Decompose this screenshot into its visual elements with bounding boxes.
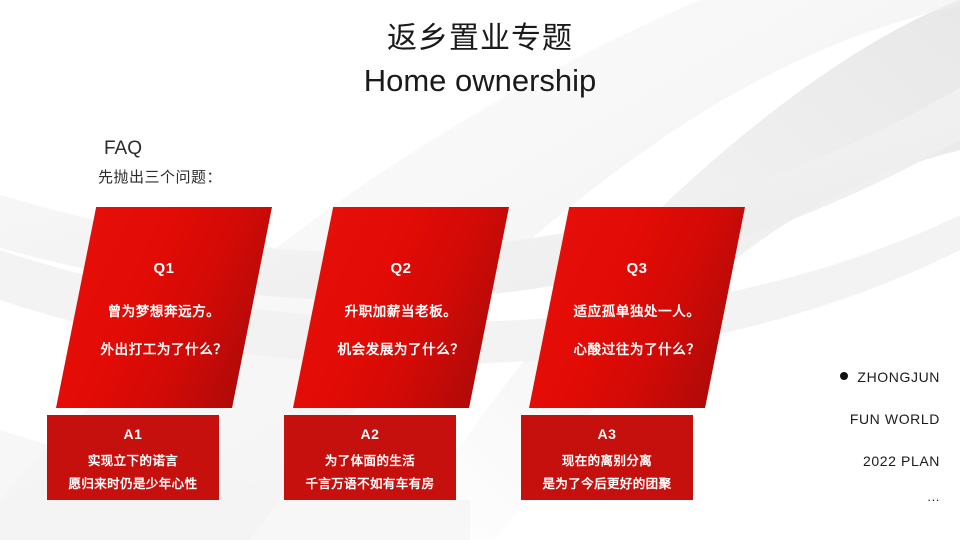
answer-3-line-1: 现在的离别分离 <box>521 450 693 469</box>
answer-box-2[interactable]: A2 为了体面的生活 千言万语不如有车有房 <box>284 415 456 500</box>
question-2-line-2: 机会发展为了什么？ <box>293 338 509 358</box>
question-panel-1-text: Q1 曾为梦想奔远方。 外出打工为了什么？ <box>56 207 272 408</box>
question-1-line-2: 外出打工为了什么？ <box>56 338 272 358</box>
question-panel-2-text: Q2 升职加薪当老板。 机会发展为了什么？ <box>293 207 509 408</box>
question-2-line-1: 升职加薪当老板。 <box>293 300 509 320</box>
answer-2-line-1: 为了体面的生活 <box>284 450 456 469</box>
answer-box-3[interactable]: A3 现在的离别分离 是为了今后更好的团聚 <box>521 415 693 500</box>
question-panel-3-text: Q3 适应孤单独处一人。 心酸过往为了什么？ <box>529 207 745 408</box>
page-title-en: Home ownership <box>0 60 960 102</box>
slide-canvas: 返乡置业专题 Home ownership FAQ 先抛出三个问题： Q1 曾为… <box>0 0 960 540</box>
answer-box-1[interactable]: A1 实现立下的诺言 愿归来时仍是少年心性 <box>47 415 219 500</box>
question-panel-2[interactable]: Q2 升职加薪当老板。 机会发展为了什么？ <box>293 207 509 408</box>
question-3-number: Q3 <box>529 260 745 277</box>
question-1-line-1: 曾为梦想奔远方。 <box>56 300 272 320</box>
page-title-cn: 返乡置业专题 <box>0 18 960 60</box>
answer-1-line-1: 实现立下的诺言 <box>47 450 219 469</box>
question-panel-1[interactable]: Q1 曾为梦想奔远方。 外出打工为了什么？ <box>56 207 272 408</box>
brand-label-1: ZHONGJUN <box>857 369 940 385</box>
answer-3-line-2: 是为了今后更好的团聚 <box>521 473 693 492</box>
slide-title-block: 返乡置业专题 Home ownership <box>0 18 960 102</box>
brand-line-zhongjun: ZHONGJUN <box>740 367 940 387</box>
answer-2-line-2: 千言万语不如有车有房 <box>284 473 456 492</box>
question-2-number: Q2 <box>293 260 509 277</box>
question-3-line-1: 适应孤单独处一人。 <box>529 300 745 320</box>
question-1-number: Q1 <box>56 260 272 277</box>
question-panel-3[interactable]: Q3 适应孤单独处一人。 心酸过往为了什么？ <box>529 207 745 408</box>
faq-subtitle: 先抛出三个问题： <box>98 167 222 189</box>
faq-heading: FAQ <box>104 137 142 161</box>
answer-1-number: A1 <box>47 426 219 442</box>
question-3-line-2: 心酸过往为了什么？ <box>529 338 745 358</box>
brand-label-4: ... <box>740 487 940 507</box>
answer-2-number: A2 <box>284 426 456 442</box>
bullet-dot-icon <box>840 372 848 380</box>
answer-1-line-2: 愿归来时仍是少年心性 <box>47 473 219 492</box>
answer-3-number: A3 <box>521 426 693 442</box>
brand-label-3: 2022 PLAN <box>740 451 940 471</box>
brand-label-2: FUN WORLD <box>740 409 940 429</box>
